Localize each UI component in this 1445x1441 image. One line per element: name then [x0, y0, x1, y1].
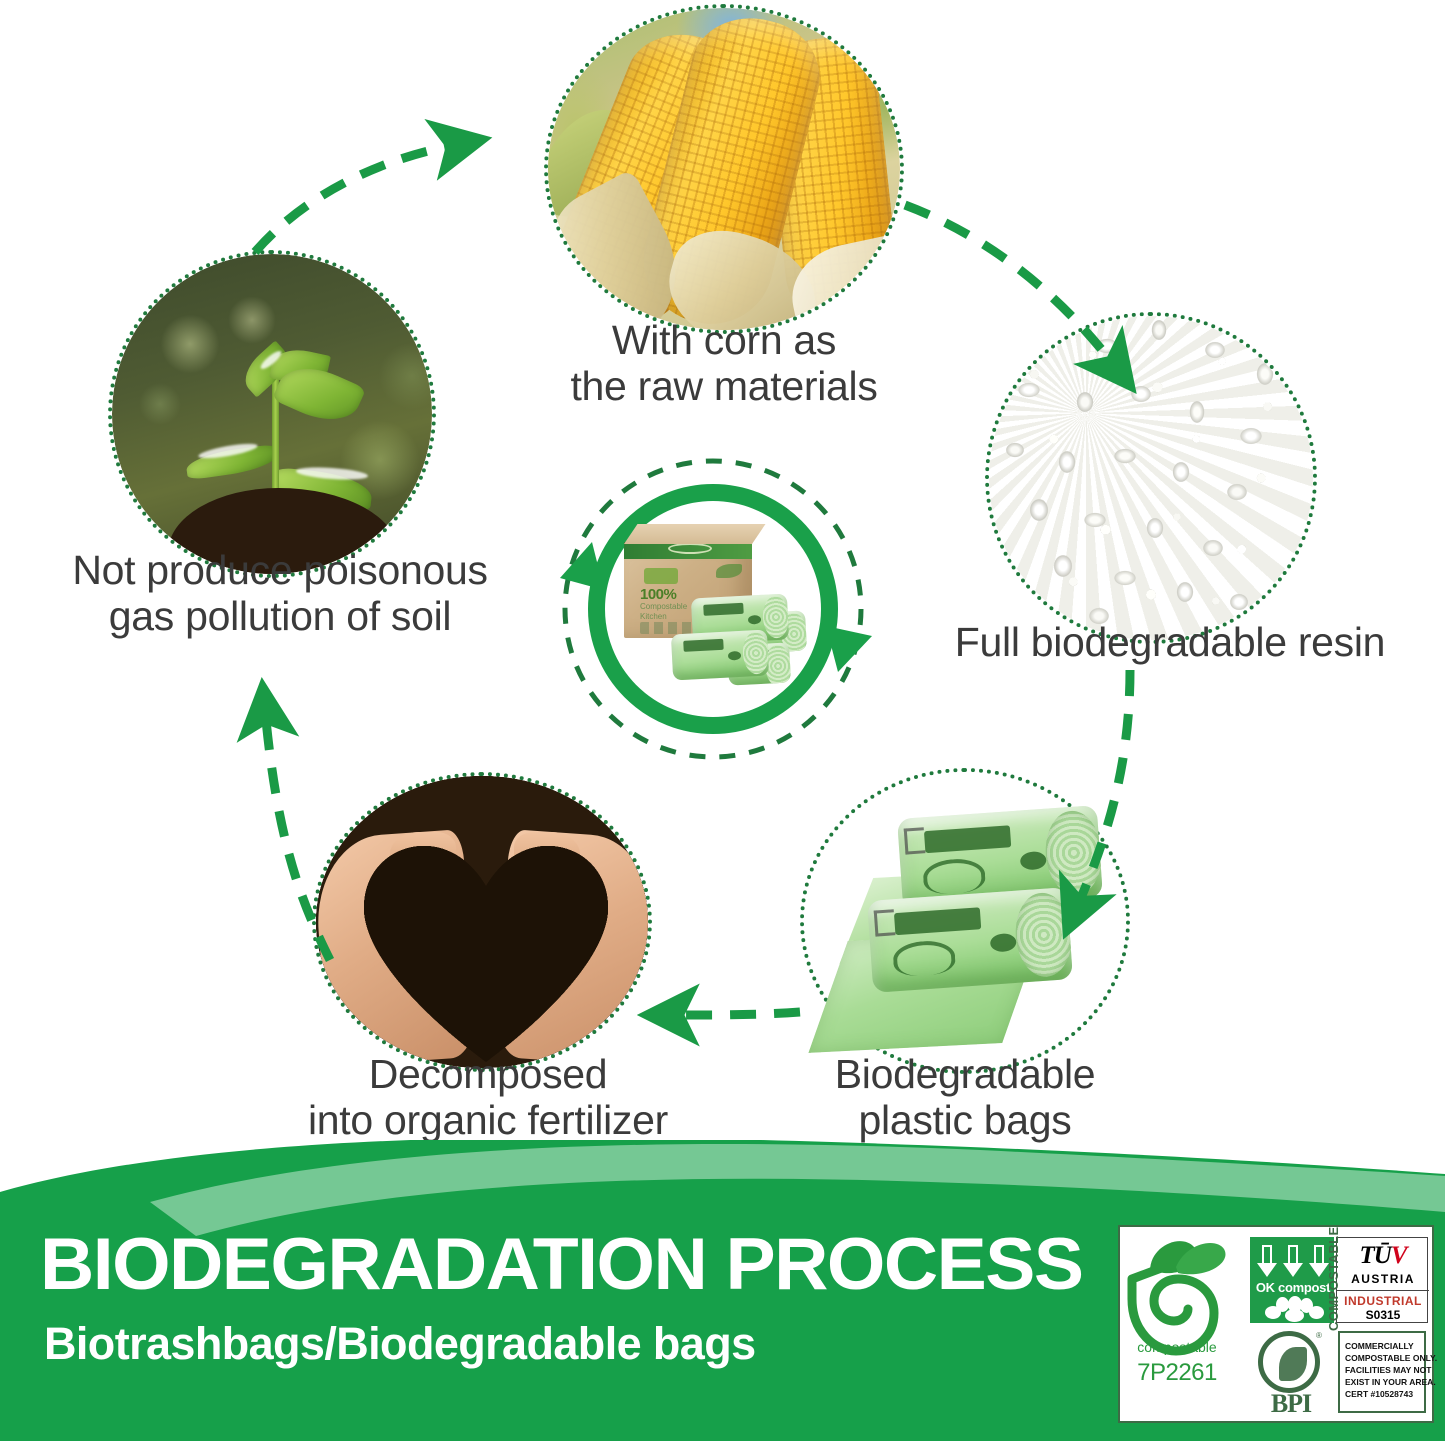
caption-line-1: Full biodegradable resin: [910, 620, 1430, 666]
white-resin-pellets-photo: [985, 312, 1317, 644]
caption-line-2: gas pollution of soil: [10, 594, 550, 640]
hands-holding-heart-soil-photo: [312, 772, 652, 1072]
seedling-number: 7P2261: [1120, 1359, 1234, 1387]
node-compost: [312, 772, 652, 1072]
tuv-code: S0315: [1337, 1308, 1429, 1322]
note-line-4: EXIST IN YOUR AREA.: [1345, 1376, 1419, 1388]
page-title: BIODEGRADATION PROCESS: [40, 1223, 1082, 1306]
tuv-austria-label: AUSTRIA: [1337, 1272, 1429, 1286]
package-percent: 100%: [640, 586, 676, 603]
note-line-3: FACILITIES MAY NOT: [1345, 1364, 1419, 1376]
note-line-1: COMMERCIALLY: [1345, 1340, 1419, 1352]
caption-line-2: the raw materials: [504, 364, 944, 410]
seedling-in-soil-photo: [108, 250, 436, 578]
tuv-wordmark: TŪV: [1359, 1242, 1406, 1269]
infographic-canvas: Not produce poisonous gas pollution of s…: [0, 0, 1445, 1441]
bpi-disclaimer-note: COMMERCIALLY COMPOSTABLE ONLY. FACILITIE…: [1338, 1331, 1426, 1413]
node-seedling: [108, 250, 436, 578]
caption-bags: Biodegradable plastic bags: [800, 1052, 1130, 1144]
node-corn: [544, 4, 904, 334]
node-resin: [985, 312, 1317, 644]
note-line-2: COMPOSTABLE ONLY.: [1345, 1352, 1419, 1364]
caption-resin: Full biodegradable resin: [910, 620, 1430, 666]
bpi-registered-mark-icon: ®: [1316, 1331, 1322, 1340]
caption-line-1: Decomposed: [292, 1052, 684, 1098]
bpi-leaf-icon: [1258, 1331, 1320, 1393]
center-product-node: 100% Compostable Kitchen: [588, 484, 838, 734]
caption-compost: Decomposed into organic fertilizer: [292, 1052, 684, 1144]
note-line-5: CERT #10528743: [1345, 1388, 1419, 1400]
tuv-austria-badge: TŪV AUSTRIA INDUSTRIAL S0315: [1336, 1237, 1428, 1323]
corn-cobs-photo: [544, 4, 904, 334]
bpi-compostable-vertical-label: COMPOSTABLE: [1326, 1243, 1348, 1331]
tuv-brand: TŪV: [1337, 1242, 1429, 1270]
caption-line-1: With corn as: [504, 318, 944, 364]
ok-compost-label: OK compost: [1251, 1280, 1335, 1295]
caption-seedling: Not produce poisonous gas pollution of s…: [10, 548, 550, 640]
bpi-badge: ® BPI: [1254, 1331, 1328, 1417]
seedling-label: compostable: [1120, 1339, 1234, 1355]
product-package-image: 100% Compostable Kitchen: [624, 536, 804, 684]
caption-corn: With corn as the raw materials: [504, 318, 944, 410]
seedling-compostable-logo: ® compostable 7P2261: [1120, 1227, 1234, 1405]
flower-icon: [1265, 1296, 1323, 1322]
caption-line-2: into organic fertilizer: [292, 1098, 684, 1144]
arrow-seedling-to-corn: [255, 146, 450, 252]
caption-line-1: Biodegradable: [800, 1052, 1130, 1098]
package-line-1: Compostable: [640, 602, 687, 611]
caption-line-1: Not produce poisonous: [10, 548, 550, 594]
tuv-grade-label: INDUSTRIAL: [1337, 1294, 1429, 1308]
caption-line-2: plastic bags: [800, 1098, 1130, 1144]
bpi-label: BPI: [1254, 1389, 1328, 1419]
node-bags: [800, 768, 1130, 1074]
green-bag-rolls-photo: [800, 768, 1130, 1074]
certification-panel: ® compostable 7P2261 OK compost TŪV: [1118, 1225, 1434, 1423]
package-line-2: Kitchen: [640, 612, 667, 621]
page-subtitle: Biotrashbags/Biodegradable bags: [44, 1318, 756, 1370]
arrow-bags-to-soil: [680, 1012, 800, 1015]
down-arrows-icon: [1258, 1245, 1328, 1279]
ok-compost-badge: OK compost: [1250, 1237, 1334, 1323]
